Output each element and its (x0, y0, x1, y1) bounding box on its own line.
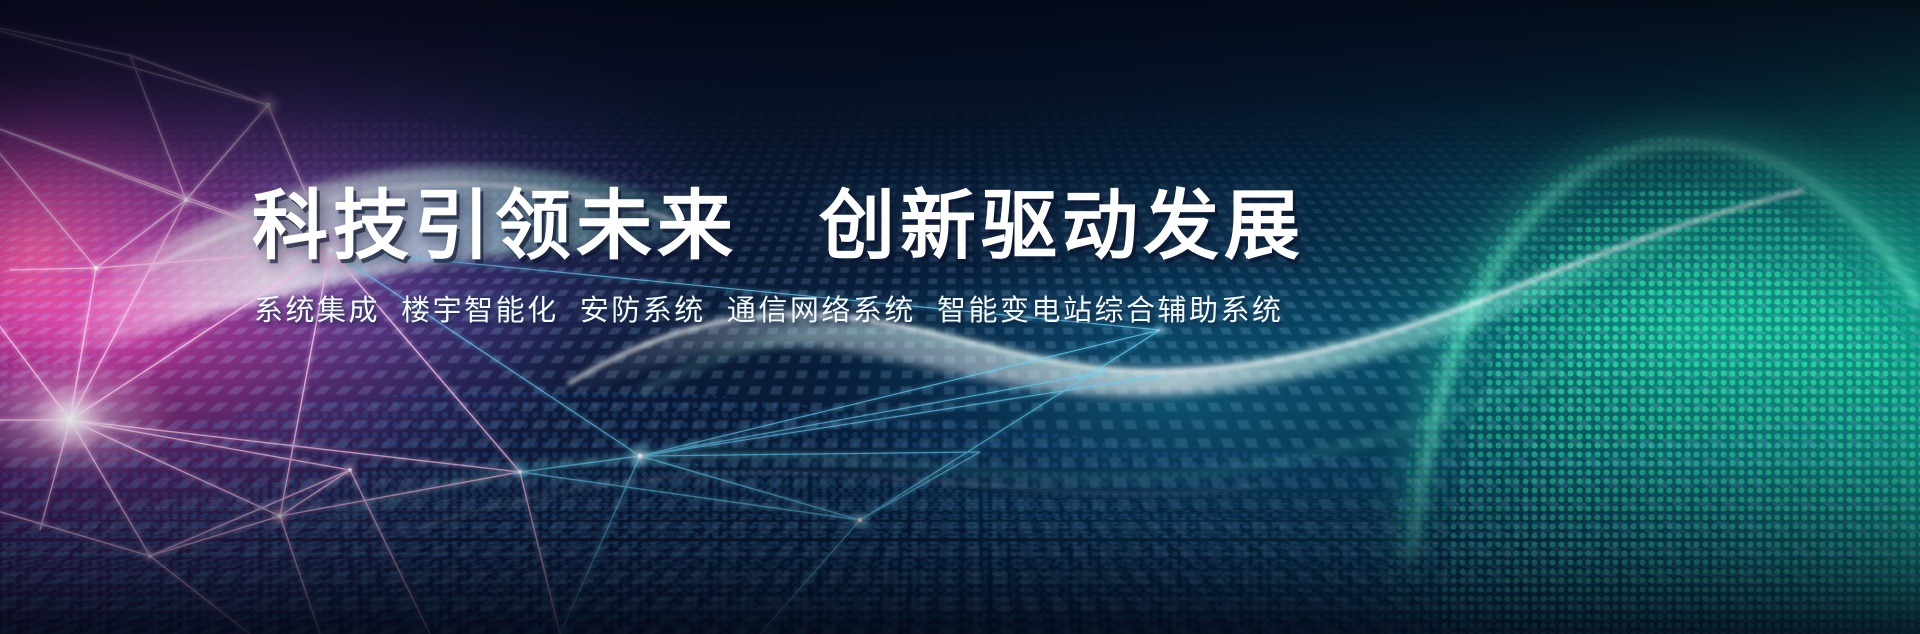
tech-banner: 科技引领未来 创新驱动发展 系统集成 楼宇智能化 安防系统 通信网络系统 智能变… (0, 0, 1920, 634)
banner-headline: 科技引领未来 创新驱动发展 (252, 186, 1305, 268)
banner-subtitle: 系统集成 楼宇智能化 安防系统 通信网络系统 智能变电站综合辅助系统 (254, 287, 1283, 329)
